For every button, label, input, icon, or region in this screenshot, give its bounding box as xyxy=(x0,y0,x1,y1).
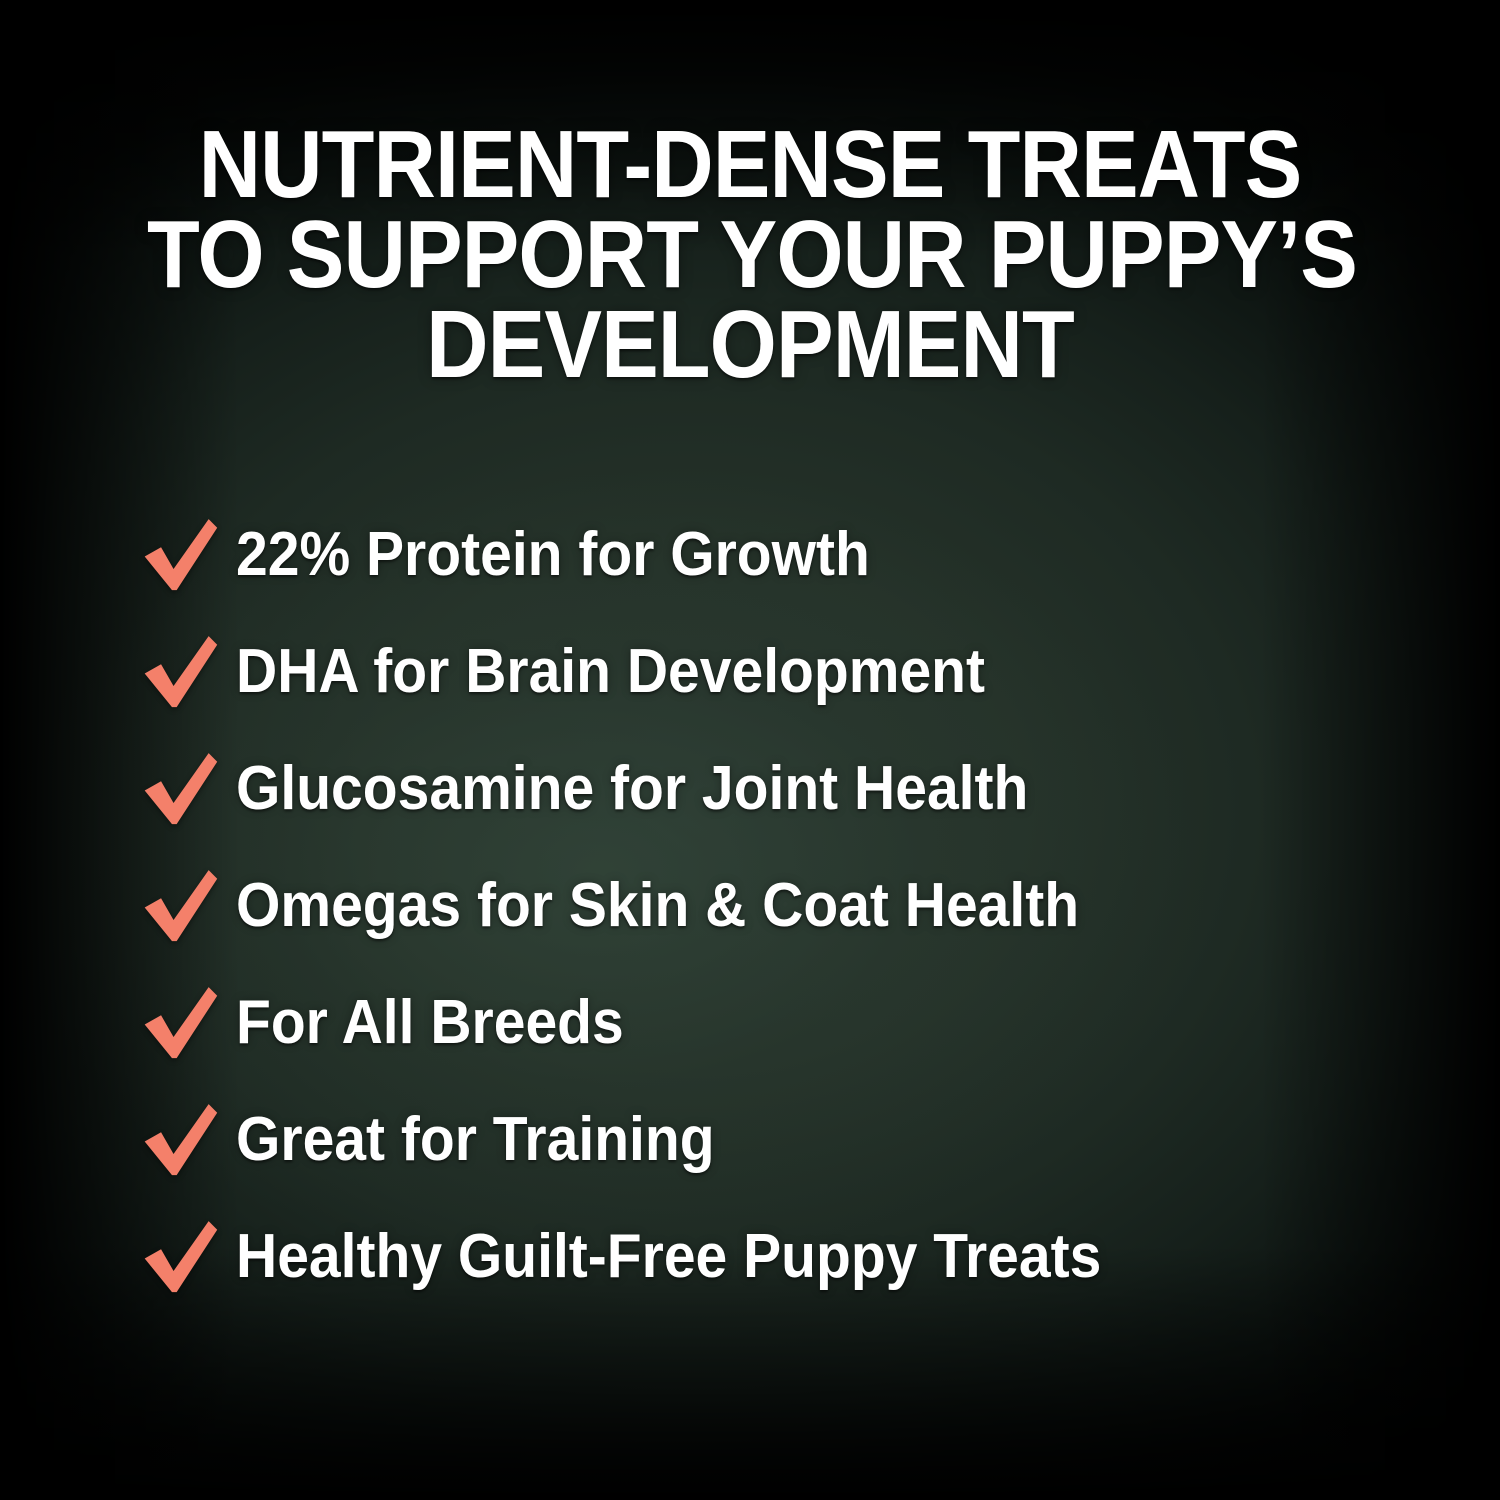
check-icon xyxy=(140,507,236,603)
headline-line-2: TO SUPPORT YOUR PUPPY’S xyxy=(147,210,1353,300)
list-item-label: DHA for Brain Development xyxy=(236,641,985,703)
list-item: Great for Training xyxy=(140,1081,1430,1198)
check-icon xyxy=(140,1209,236,1305)
list-item: 22% Protein for Growth xyxy=(140,496,1430,613)
headline-line-1: NUTRIENT-DENSE TREATS xyxy=(147,120,1353,210)
benefit-list: 22% Protein for Growth DHA for Brain Dev… xyxy=(140,496,1430,1315)
list-item-label: Omegas for Skin & Coat Health xyxy=(236,875,1079,937)
check-icon xyxy=(140,858,236,954)
check-icon xyxy=(140,624,236,720)
list-item-label: Great for Training xyxy=(236,1109,715,1171)
list-item: Glucosamine for Joint Health xyxy=(140,730,1430,847)
list-item-label: 22% Protein for Growth xyxy=(236,524,870,586)
list-item-label: Healthy Guilt-Free Puppy Treats xyxy=(236,1226,1101,1288)
list-item: Healthy Guilt-Free Puppy Treats xyxy=(140,1198,1430,1315)
check-icon xyxy=(140,1092,236,1188)
list-item: For All Breeds xyxy=(140,964,1430,1081)
headline-line-3: DEVELOPMENT xyxy=(147,300,1353,390)
list-item: DHA for Brain Development xyxy=(140,613,1430,730)
list-item: Omegas for Skin & Coat Health xyxy=(140,847,1430,964)
list-item-label: Glucosamine for Joint Health xyxy=(236,758,1028,820)
product-benefits-poster: NUTRIENT-DENSE TREATS TO SUPPORT YOUR PU… xyxy=(0,0,1500,1500)
list-item-label: For All Breeds xyxy=(236,992,624,1054)
check-icon xyxy=(140,741,236,837)
check-icon xyxy=(140,975,236,1071)
page-title: NUTRIENT-DENSE TREATS TO SUPPORT YOUR PU… xyxy=(147,120,1353,391)
poster-content: NUTRIENT-DENSE TREATS TO SUPPORT YOUR PU… xyxy=(0,0,1500,1500)
